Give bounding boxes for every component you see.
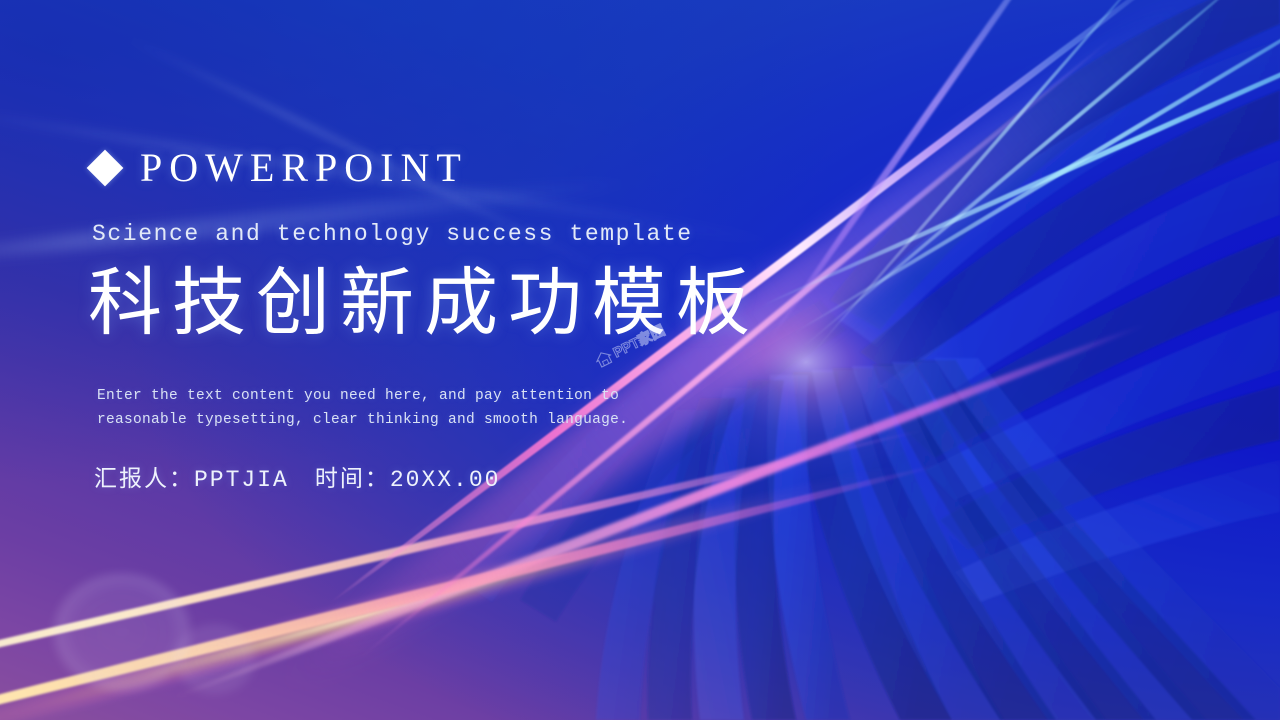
brand-title: POWERPOINT: [140, 148, 468, 188]
slide-text-content: POWERPOINT Science and technology succes…: [92, 0, 792, 720]
diamond-icon: [87, 150, 124, 187]
date-value: 20XX.00: [390, 467, 501, 493]
slide-subtitle: Science and technology success template: [92, 223, 693, 246]
presenter-label: 汇报人：: [94, 467, 194, 493]
slide-headline: 科技创新成功模板: [88, 266, 760, 343]
date-label: 时间：: [315, 467, 390, 493]
slide-body-copy: Enter the text content you need here, an…: [97, 385, 672, 433]
slide-meta-row: 汇报人：PPTJIA时间：20XX.00: [94, 459, 500, 493]
presenter-value: PPTJIA: [194, 467, 289, 493]
slide-canvas: POWERPOINT Science and technology succes…: [0, 0, 1280, 720]
brand-row: POWERPOINT: [92, 148, 468, 188]
